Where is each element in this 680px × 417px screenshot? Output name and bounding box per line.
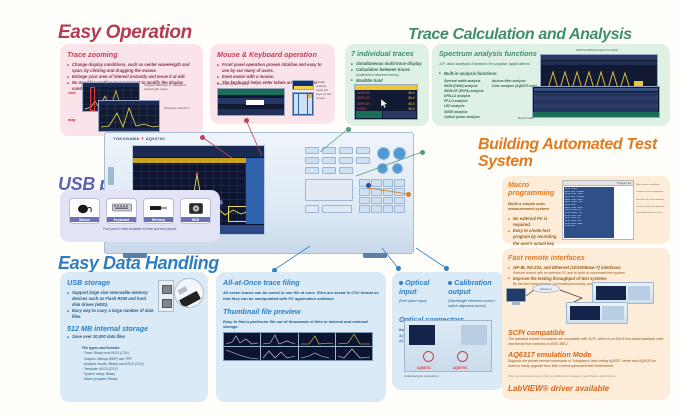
heading-macro-programming: Macro programming [508,181,554,198]
callout-dot-7traces [346,127,351,132]
list-item: No external PC is required. [508,216,560,228]
heading-calibration-output: Calibration output [448,278,497,296]
mouse-icon [77,199,93,217]
caption-point-item: Point the item to modify [217,82,248,86]
section-title-trace-calculation: Trace Calculation and Analysis [408,26,632,44]
text-aq6317-emulation: Supports the private remote commands of … [508,359,664,369]
heading-seven-traces: 7 individual traces [351,49,423,58]
photo-label-left: AQ6370C [417,366,431,370]
text-macro-intro: Build a simple auto-measurement system [508,201,558,213]
heading-remote-interfaces: Fast remote interfaces [508,253,664,262]
analyzer-icon-1 [592,282,654,304]
list-item: Change display conditions, such as cente… [67,62,196,74]
thumbnail-grid[interactable] [223,332,373,361]
analyzer-icon-2 [566,302,628,324]
list-item: Front panel operation proven intuitive a… [217,62,328,74]
note-usb-ports: Four ports in total available on front a… [66,227,214,231]
callout-dot-macro [406,192,411,197]
sub-calibration-output: (Wavelength reference source / optical a… [448,299,497,309]
brand-text: YOKOGAWA [113,136,139,141]
card-data-storage: USB storage Support large size removable… [60,272,208,402]
analysis-functions-column-2: Various filter analysis Color analysis (… [492,79,538,120]
callout-dot-trace-zoom [200,135,205,140]
heading-trace-filing: All-at-Once trace filing [223,278,379,287]
photo-usb-ports-panel [158,280,174,312]
diagram-remote-network: Ethernet [506,282,664,324]
analysis-functions-column-1: Spectral width analysis WDM (DWM) analys… [444,79,484,120]
callout-dot-spectrum [420,150,425,155]
file-types-block: File types and formats: · Trace: Binary … [82,346,144,382]
card-trace-zooming: Trace zooming Change display conditions,… [60,44,203,136]
heading-trace-zooming: Trace zooming [67,50,196,59]
usb-device-label: HDD [181,217,210,222]
text-scpi: The standard remote commands are compati… [508,337,664,347]
section-title-building-automated: Building Automated Test System [478,136,680,171]
usb-device-label: Memory [144,217,173,222]
card-usb-ports: Mouse Keyboard Memory HDD Four [60,190,220,242]
usb-device-mouse: Mouse [69,198,100,224]
instrument-keypad[interactable] [303,145,407,237]
list-item: · Macro program: Binary [82,377,144,382]
list-internal-storage: Save over 20,000 data files [67,334,125,340]
caption-universal-connectors: Universal type connectors [404,374,439,378]
heading-thumbnail-preview: Thumbnail file preview [223,307,379,316]
label-drag: drag [68,118,75,122]
screenshot-value-readout [292,80,314,90]
model-text: AQ6370C [146,136,166,141]
usb-port-front [108,167,114,185]
screenshot-settings-panel [217,88,285,116]
annotation-item: Measurement conditions [636,184,668,187]
caption-modify-settings: Modify settings using the keys on the sc… [316,81,333,100]
footnote-aq6317: Note: some commands may not be compatibl… [508,375,664,378]
heading-labview: LabVIEW® driver available [508,384,609,393]
text-trace-filing: All seven traces can be saved in one fil… [223,290,379,302]
thumbnail-item[interactable] [299,347,335,360]
callout-dot-mouse-kb [244,118,249,123]
card-macro-programming: Macro programming Build a simple auto-me… [502,176,670,244]
usb-memory-icon [150,199,168,217]
thumbnail-item[interactable] [261,333,297,346]
thumbnail-item[interactable] [299,333,335,346]
callout-dot-calibration [444,266,449,271]
card-seven-traces: 7 individual traces Simultaneous multi-t… [345,44,429,126]
label-file-types: File types and formats: [82,346,120,350]
thumbnail-item[interactable] [261,347,297,360]
caption-original-waveform: Original waveform in measured wavelength… [144,83,196,91]
list-item: GP-IB, RS-232, and Ethernet (10/100Base-… [508,265,664,276]
section-title-easy-operation: Easy Operation [58,22,192,44]
annotations-program-list: Measurement conditions Control of optica… [636,184,668,215]
card-mouse-keyboard: Mouse & Keyboard operation Front panel o… [210,44,335,124]
caption-enlarged-waveform: Enlarged waveform [164,106,198,110]
hdd-icon [189,199,203,217]
usb-device-label: Keyboard [107,217,136,222]
screenshot-enlarged-waveform [98,100,160,132]
instrument-brand: YOKOGAWA ✦ AQ6370C [113,136,166,141]
thumbnail-item[interactable] [224,333,260,346]
card-optical-io: Optical input (Free space input) Calibra… [392,272,504,390]
screenshot-result-table [532,86,660,118]
sub-optical-input: (Free space input) [399,299,444,304]
list-item: Color analysis (AQ6373 only) [492,84,538,89]
heading-optical-input: Optical input [399,278,444,296]
card-remote-interfaces: Fast remote interfaces GP-IB, RS-232, an… [502,248,670,400]
caption-wdm-analysis: WDM (DWM) Analysis Function [552,48,642,52]
list-usb-storage: Support large size removable memory devi… [67,290,155,320]
callout-dot-optical-input [396,266,401,271]
keyboard-icon [112,199,132,217]
list-seven-traces: Simultaneous multi-trace display Calcula… [351,61,423,84]
annotation-item: Calculation between traces [636,212,668,215]
label-click: click [68,91,76,95]
brochure-page: Easy Operation Trace Calculation and Ana… [0,0,680,417]
usb-device-hdd: HDD [180,198,211,224]
caption-program-list: Program list [617,182,631,185]
list-item: Easy way to carry a large number of data… [67,308,155,320]
usb-device-memory: Memory [143,198,174,224]
annotation-item: Execution of a measurement [636,199,668,202]
thumbnail-item[interactable] [336,347,372,360]
screenshot-trace-list: DISPLAYDISPLAYDISPLAYFIXEDDISPLAY /BLK/B… [354,84,418,120]
card-trace-filing: All-at-Once trace filing All seven trace… [216,272,386,402]
heading-scpi: SCPI compatible [508,328,565,337]
caption-result-table: Result table [518,116,534,120]
text-thumbnail-preview: Easy to find a particular file out of th… [223,319,379,331]
card-spectrum-analysis: Spectrum analysis functions 13+ data ana… [432,44,670,126]
list-item: Save over 20,000 data files [67,334,125,340]
screenshot-program-list: Program list 0010 SETUP0020 WAV 1550nm00… [562,180,634,240]
callout-dot-panel [366,183,371,188]
screenshot-keypad [292,92,314,116]
instrument-foot-right [363,253,387,258]
heading-aq6317-emulation: AQ6317 emulation Mode [508,350,591,359]
list-item: Support large size removable memory devi… [67,290,155,308]
annotation-item: Control of external equipment [636,206,668,209]
photo-connector-panel: AQ6370C AQ6370C [404,320,492,372]
thumbnail-item[interactable] [224,347,260,360]
thumbnail-item[interactable] [336,333,372,346]
usb-device-label: Mouse [70,217,99,222]
photo-usb-stick [174,278,204,308]
usb-device-keyboard: Keyboard [106,198,137,224]
list-item: Optical power analysis [444,115,484,120]
photo-label-right: AQ6370C [453,366,467,370]
list-item: Calculation between traces (subtraction … [351,67,423,78]
annotation-item: Control of optical equipment [636,191,668,194]
list-item-label: Calculation between traces [356,67,410,72]
instrument-foot-left [123,253,147,258]
heading-internal-storage: 512 MB internal storage [67,324,148,333]
heading-mouse-keyboard: Mouse & Keyboard operation [217,50,328,59]
